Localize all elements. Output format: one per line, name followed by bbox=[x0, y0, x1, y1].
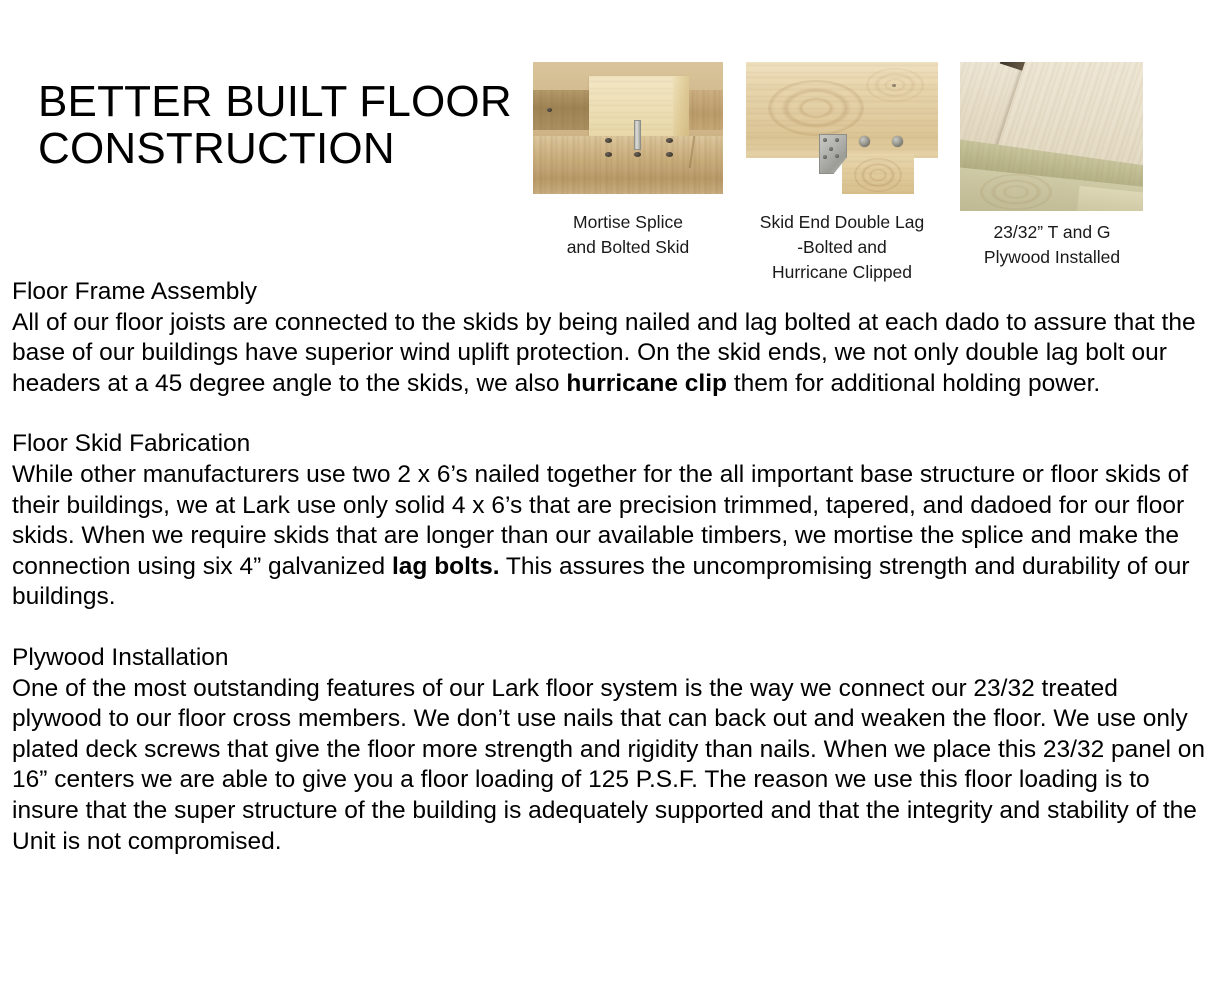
page-title: BETTER BUILT FLOOR CONSTRUCTION bbox=[38, 78, 518, 172]
section-paragraph: All of our floor joists are connected to… bbox=[12, 308, 1212, 400]
plywood-photo bbox=[960, 62, 1143, 211]
photo-strip: Mortise Splice and Bolted Skid bbox=[533, 62, 1153, 292]
figure-caption-skid-end: Skid End Double Lag -Bolted and Hurrican… bbox=[732, 210, 952, 285]
section-heading: Floor Frame Assembly bbox=[12, 277, 1212, 308]
section-plywood-installation: Plywood Installation One of the most out… bbox=[12, 643, 1212, 857]
lag-bolt-head bbox=[892, 136, 903, 147]
skid-end-photo bbox=[746, 62, 938, 194]
section-spacer bbox=[12, 399, 1212, 429]
figure-plywood: 23/32” T and G Plywood Installed bbox=[960, 62, 1143, 211]
slide-canvas: BETTER BUILT FLOOR CONSTRUCTION bbox=[0, 0, 1220, 999]
figure-skid-end: Skid End Double Lag -Bolted and Hurrican… bbox=[746, 62, 938, 194]
figure-caption-mortise-splice: Mortise Splice and Bolted Skid bbox=[525, 210, 731, 260]
section-spacer bbox=[12, 613, 1212, 643]
section-floor-skid-fabrication: Floor Skid Fabrication While other manuf… bbox=[12, 429, 1212, 613]
figure-mortise-splice: Mortise Splice and Bolted Skid bbox=[533, 62, 723, 194]
mortise-splice-photo bbox=[533, 62, 723, 194]
section-paragraph: While other manufacturers use two 2 x 6’… bbox=[12, 460, 1212, 613]
lag-bolt-head bbox=[859, 136, 870, 147]
section-heading: Plywood Installation bbox=[12, 643, 1212, 674]
section-paragraph: One of the most outstanding features of … bbox=[12, 674, 1212, 858]
figure-caption-plywood: 23/32” T and G Plywood Installed bbox=[948, 220, 1156, 270]
body-content: Floor Frame Assembly All of our floor jo… bbox=[12, 277, 1212, 857]
section-heading: Floor Skid Fabrication bbox=[12, 429, 1212, 460]
section-floor-frame-assembly: Floor Frame Assembly All of our floor jo… bbox=[12, 277, 1212, 399]
